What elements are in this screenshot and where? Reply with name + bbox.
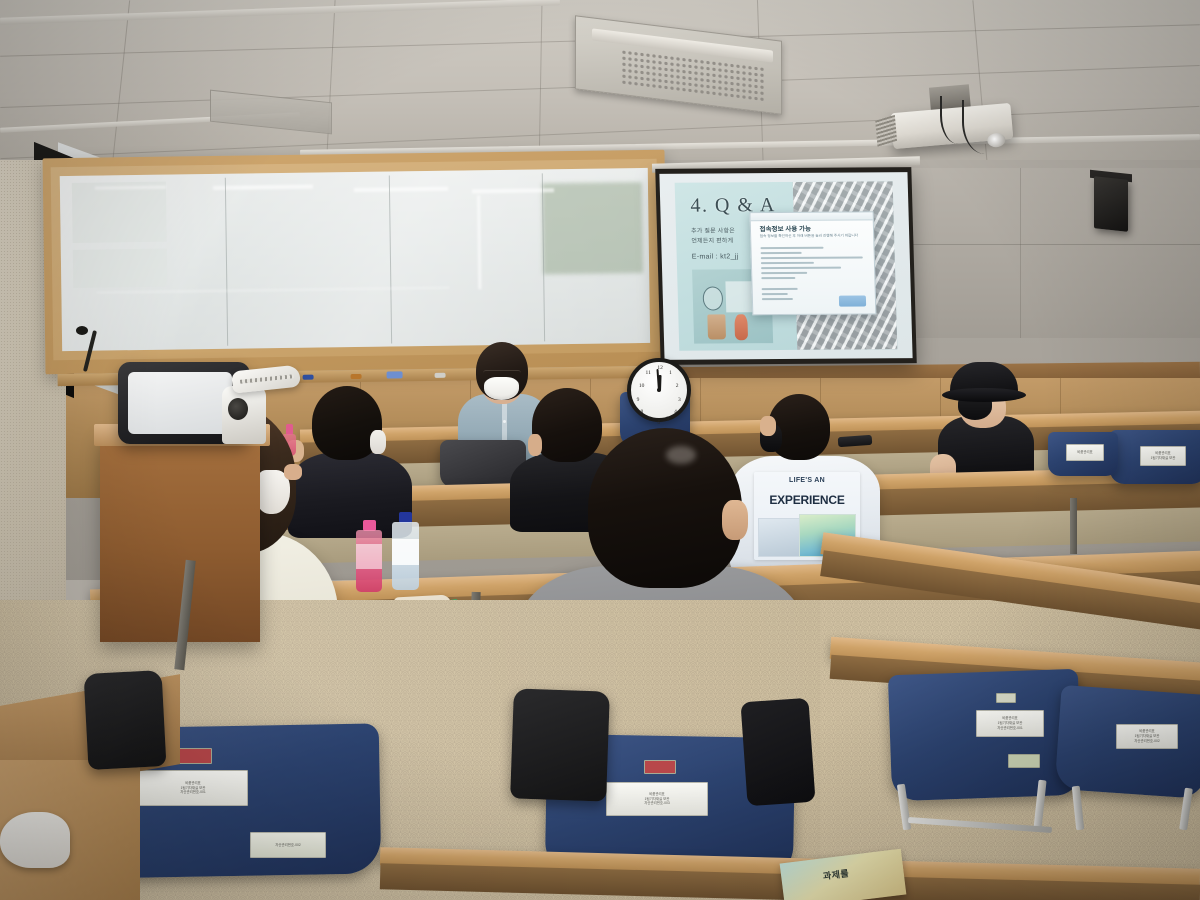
slide-illus-card bbox=[726, 281, 755, 312]
backpack-left[interactable] bbox=[84, 670, 167, 770]
wall-clock: 12 1 2 3 4 5 6 7 8 9 10 11 bbox=[627, 358, 691, 422]
white-shoes bbox=[0, 812, 70, 868]
clock-numeral-10: 10 bbox=[639, 383, 645, 389]
grey-shirt-ear bbox=[722, 500, 748, 540]
whiteboard-surface bbox=[60, 168, 650, 351]
wall-speaker bbox=[1094, 176, 1128, 232]
booklet-text: 과제를 bbox=[822, 866, 850, 882]
bottle-water-label bbox=[392, 539, 419, 566]
clock-center-pin bbox=[657, 388, 661, 392]
chair-front-centre-tag bbox=[644, 760, 676, 774]
dialog-item-6 bbox=[761, 272, 807, 275]
chair-front-left-label2: 자산관리번호-002 bbox=[250, 832, 326, 858]
dialog-subtext: 접속 정보를 확인하신 후 아래 버튼을 눌러 진행해 주시기 바랍니다 bbox=[760, 233, 865, 239]
dialog-title-bar bbox=[751, 213, 873, 222]
document-camera-lens bbox=[228, 398, 248, 420]
chair-empty-4[interactable]: 비품관리표 bbox=[1048, 432, 1118, 482]
dialog-item-7 bbox=[761, 277, 795, 279]
slide-illus-figure bbox=[734, 314, 747, 341]
grey-shirt-hair bbox=[588, 428, 742, 588]
clock-numeral-9: 9 bbox=[637, 397, 640, 403]
chair-front-centre-label: 비품관리표 1팀기자재실 보관 자산관리번호-003 bbox=[606, 782, 708, 816]
backpack-centre[interactable] bbox=[510, 688, 610, 801]
bottle-water[interactable] bbox=[392, 512, 419, 590]
chair-empty-1-label: 비품관리표 1팀기자재실 보관 자산관리번호-001 bbox=[976, 710, 1044, 737]
chair-label2-line2: 자산관리번호-002 bbox=[1134, 739, 1160, 744]
projection-screen: 4. Q & A 추가 질문 사항은 언제든지 편하게 E-mail : kt2… bbox=[655, 167, 917, 365]
chair-empty-2-label: 비품관리표 1팀기자재실 보관 자산관리번호-002 bbox=[1116, 724, 1178, 749]
back-wall-upper-right bbox=[880, 168, 1200, 338]
slide-body-text: 추가 질문 사항은 언제든지 편하게 bbox=[691, 228, 748, 247]
chair-empty-3[interactable]: 비품관리표 1팀기자재실 보관 bbox=[1110, 430, 1200, 492]
slide-dialog-window: 접속정보 사용 가능 접속 정보를 확인하신 후 아래 버튼을 눌러 진행해 주… bbox=[750, 212, 877, 315]
clock-numeral-6: 6 bbox=[657, 420, 660, 426]
dialog-footer-3 bbox=[761, 298, 793, 300]
dialog-footer-2 bbox=[761, 293, 788, 295]
whiteboard-eraser[interactable] bbox=[386, 371, 402, 378]
dialog-item-2 bbox=[760, 251, 802, 253]
desk-leg-right bbox=[1070, 498, 1077, 554]
bag-right[interactable] bbox=[740, 698, 815, 806]
dialog-footer-1 bbox=[761, 288, 798, 290]
dialog-confirm-button[interactable] bbox=[838, 295, 865, 306]
chair-fl2-line: 자산관리번호-002 bbox=[275, 843, 301, 848]
clock-numeral-4: 4 bbox=[674, 409, 677, 415]
dialog-item-3 bbox=[760, 256, 863, 259]
chair-empty-1-tag bbox=[996, 693, 1016, 703]
clock-numeral-7: 7 bbox=[648, 416, 651, 422]
bucket-hat-brim bbox=[942, 388, 1026, 402]
microphone-head bbox=[76, 326, 88, 335]
chair-empty-3-label: 비품관리표 1팀기자재실 보관 bbox=[1140, 446, 1186, 466]
dialog-heading: 접속정보 사용 가능 bbox=[759, 223, 811, 233]
dialog-item-4 bbox=[760, 261, 814, 264]
grey-shirt-crown-highlight bbox=[666, 446, 696, 464]
chair-empty-2-leg-left bbox=[1072, 786, 1085, 831]
presenter-shirt-button-1 bbox=[503, 420, 506, 423]
marker-brown[interactable] bbox=[351, 374, 362, 379]
slide-email-value: kt2_jj bbox=[720, 253, 738, 260]
chair-empty-4-label: 비품관리표 bbox=[1066, 444, 1104, 461]
chair-fl-line2: 자산관리번호-001 bbox=[180, 790, 206, 795]
cream-shirt-cheek bbox=[284, 464, 302, 480]
slide-illus-circle bbox=[702, 286, 724, 310]
lecture-hall-photo: 4. Q & A 추가 질문 사항은 언제든지 편하게 E-mail : kt2… bbox=[0, 0, 1200, 900]
clock-numeral-2: 2 bbox=[676, 383, 679, 389]
dialog-item-1 bbox=[760, 246, 824, 249]
clock-numeral-11: 11 bbox=[646, 370, 651, 376]
slide-email-label: E-mail : bbox=[692, 253, 718, 260]
chair-empty-1[interactable]: 비품관리표 1팀기자재실 보관 자산관리번호-001 bbox=[890, 672, 1080, 822]
chair-empty-2[interactable]: 비품관리표 1팀기자재실 보관 자산관리번호-002 bbox=[1058, 690, 1200, 830]
bottle-pink-drink[interactable] bbox=[356, 520, 382, 592]
chair-fc-line2: 자산관리번호-003 bbox=[644, 801, 670, 806]
lectern-monitor-screen bbox=[128, 372, 232, 434]
presentation-slide: 4. Q & A 추가 질문 사항은 언제든지 편하게 E-mail : kt2… bbox=[675, 182, 898, 351]
person-bucket-hat bbox=[930, 358, 1034, 488]
chair-label-line2: 자산관리번호-001 bbox=[997, 726, 1023, 731]
chair-empty-1-tag2 bbox=[1008, 754, 1040, 768]
dialog-item-5 bbox=[761, 266, 842, 269]
chair-label4-header: 비품관리표 bbox=[1077, 450, 1093, 455]
clock-numeral-1: 1 bbox=[669, 370, 672, 376]
slide-illus-cup bbox=[708, 314, 726, 339]
chair-label3-line1: 1팀기자재실 보관 bbox=[1151, 456, 1176, 461]
chair-front-left-label: 비품관리표 1팀기자재실 보관 자산관리번호-001 bbox=[138, 770, 248, 806]
marker-white[interactable] bbox=[434, 373, 445, 378]
marker-blue[interactable] bbox=[303, 375, 314, 380]
bottle-pink-label bbox=[356, 544, 382, 568]
clock-numeral-8: 8 bbox=[641, 409, 644, 415]
clock-numeral-3: 3 bbox=[678, 397, 681, 403]
clock-numeral-5: 5 bbox=[666, 416, 669, 422]
whiteboard bbox=[43, 150, 668, 375]
slide-email-row: E-mail : kt2_jj bbox=[692, 253, 739, 260]
navy-tee-mask-edge bbox=[370, 430, 386, 454]
